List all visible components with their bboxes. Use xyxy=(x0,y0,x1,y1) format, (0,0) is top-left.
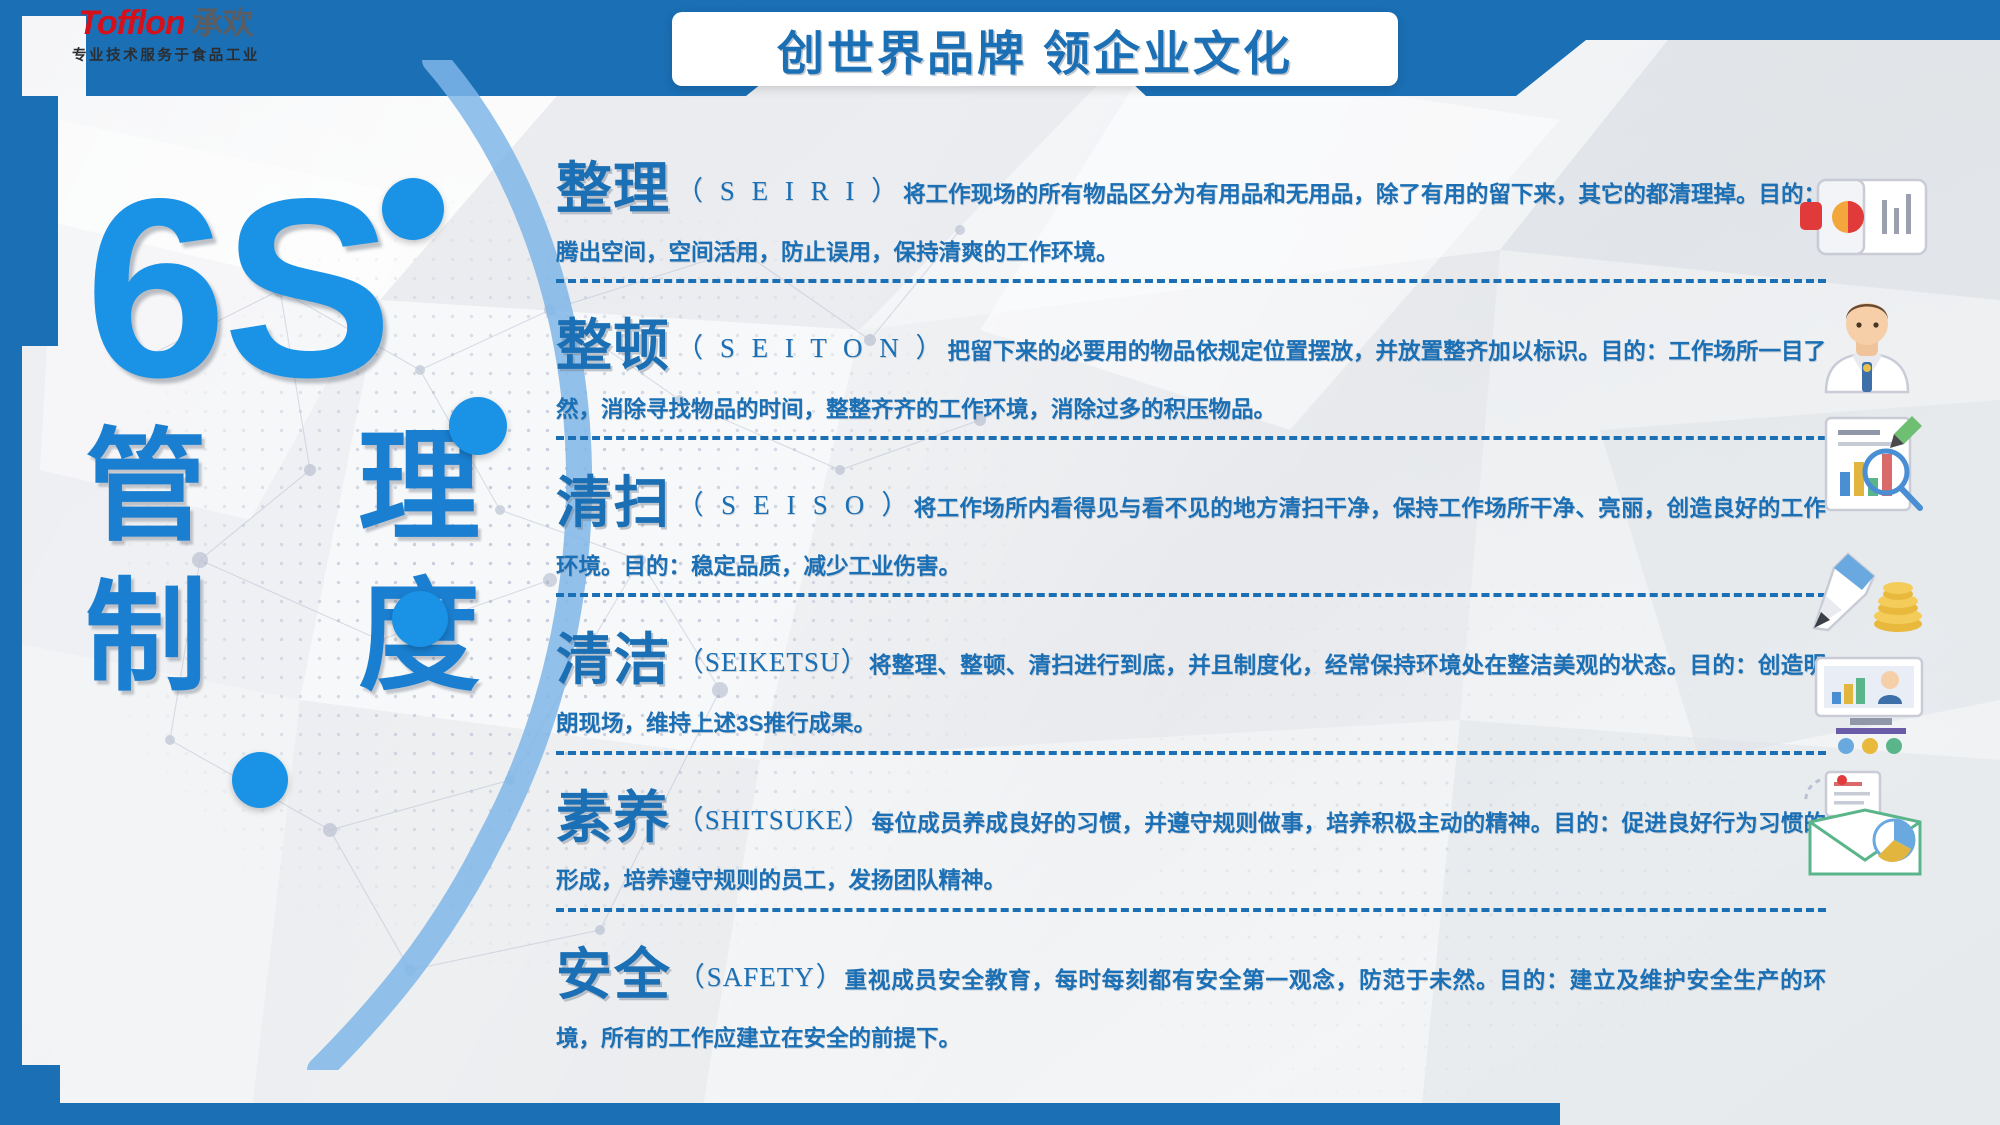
item-term-6: 安全 xyxy=(556,943,672,1006)
brand-logo: Tofflon承欢 专业技术服务于食品工业 xyxy=(46,6,286,68)
list-item: 素养（SHITSUKE）每位成员养成良好的习惯，并遵守规则做事，培养积极主动的精… xyxy=(556,773,1956,930)
row-separator xyxy=(556,436,1826,440)
item-roman-6: （SAFETY） xyxy=(678,962,845,992)
logo-tagline: 专业技术服务于食品工业 xyxy=(46,44,286,65)
page-title: 创世界品牌 领企业文化 xyxy=(777,15,1293,84)
poster-canvas: Tofflon承欢 专业技术服务于食品工业 创世界品牌 领企业文化 6S 管 理… xyxy=(0,0,2000,1125)
list-item: 整顿（ S E I T O N ）把留下来的必要用的物品依规定位置摆放，并放置整… xyxy=(556,301,1956,458)
presentation-icon xyxy=(1790,652,1940,762)
sixs-char-guan: 管 xyxy=(85,416,207,560)
frame-left-thin xyxy=(0,96,22,1071)
list-item: 清洁（SEIKETSU）将整理、整顿、清扫进行到底，并且制度化，经常保持环境处在… xyxy=(556,615,1956,772)
logo-chinese-name: 承欢 xyxy=(192,8,254,39)
sixs-big-label: 6S xyxy=(85,168,515,410)
person-icon xyxy=(1792,288,1942,398)
mail-chart-icon xyxy=(1790,770,1940,880)
arc-node-1 xyxy=(382,178,444,240)
row-separator xyxy=(556,593,1826,597)
item-text-1: 整理（ S E I R I ）将工作现场的所有物品区分为有用品和无用品，除了有用… xyxy=(556,144,1826,271)
arc-node-4 xyxy=(232,752,288,808)
item-term-5: 素养 xyxy=(556,786,670,849)
sixs-char-zhi: 制 xyxy=(85,566,207,710)
item-roman-4: （SEIKETSU） xyxy=(677,647,869,677)
item-text-5: 素养（SHITSUKE）每位成员养成良好的习惯，并遵守规则做事，培养积极主动的精… xyxy=(556,773,1826,900)
arc-node-3 xyxy=(392,591,448,647)
item-roman-5: （SHITSUKE） xyxy=(676,805,871,835)
list-item: 安全（SAFETY）重视成员安全教育，每时每刻都有安全第一观念，防范于未然。目的… xyxy=(556,930,1956,1063)
item-roman-1: （ S E I R I ） xyxy=(676,176,903,206)
row-separator xyxy=(556,751,1826,755)
item-text-4: 清洁（SEIKETSU）将整理、整顿、清扫进行到底，并且制度化，经常保持环境处在… xyxy=(556,615,1826,742)
pen-coins-icon xyxy=(1790,532,1940,642)
list-item: 整理（ S E I R I ）将工作现场的所有物品区分为有用品和无用品，除了有用… xyxy=(556,144,1956,301)
item-text-3: 清扫（ S E I S O ）将工作场所内看得见与看不见的地方清扫干净，保持工作… xyxy=(556,458,1826,585)
item-term-2: 整顿 xyxy=(556,314,670,377)
frame-bottom-left-corner xyxy=(0,1065,60,1125)
list-item: 清扫（ S E I S O ）将工作场所内看得见与看不见的地方清扫干净，保持工作… xyxy=(556,458,1956,615)
item-text-6: 安全（SAFETY）重视成员安全教育，每时每刻都有安全第一观念，防范于未然。目的… xyxy=(556,930,1826,1057)
header-ribbon: 创世界品牌 领企业文化 xyxy=(672,12,1398,86)
item-roman-2: （ S E I T O N ） xyxy=(676,333,948,363)
row-separator xyxy=(556,279,1826,283)
item-term-1: 整理 xyxy=(556,157,670,220)
item-term-3: 清扫 xyxy=(556,471,671,534)
report-search-icon xyxy=(1794,410,1944,520)
sixs-title-block: 6S 管 理 制 度 xyxy=(85,168,515,728)
toolbox-icon xyxy=(1790,162,1940,272)
frame-bottom-bar xyxy=(0,1103,1560,1125)
logo-wordmark: Tofflon xyxy=(78,6,184,40)
row-separator xyxy=(556,908,1826,912)
item-roman-3: （ S E I S O ） xyxy=(677,490,914,520)
arc-node-2 xyxy=(449,397,507,455)
items-list: 整理（ S E I R I ）将工作现场的所有物品区分为有用品和无用品，除了有用… xyxy=(556,144,1956,1063)
item-term-4: 清洁 xyxy=(556,628,671,691)
item-text-2: 整顿（ S E I T O N ）把留下来的必要用的物品依规定位置摆放，并放置整… xyxy=(556,301,1826,428)
